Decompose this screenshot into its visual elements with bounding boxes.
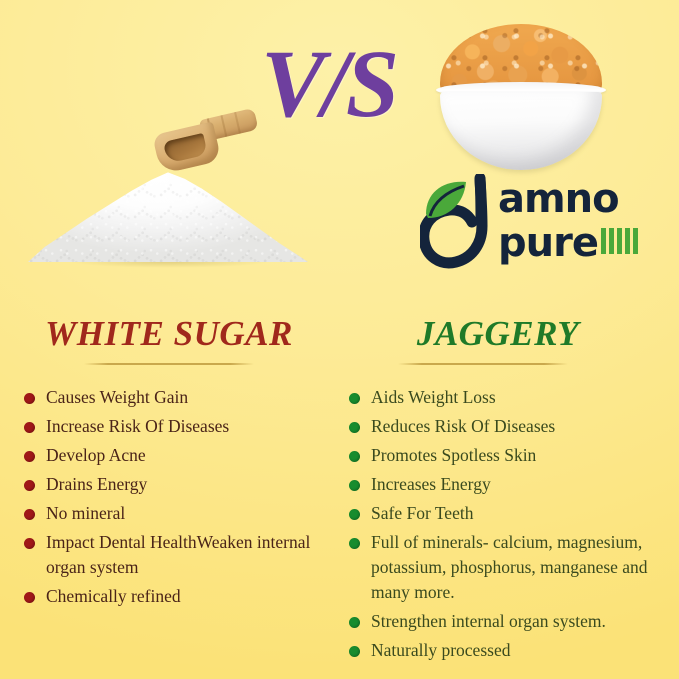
list-item-text: Safe For Teeth (371, 503, 473, 523)
list-item-text: Drains Energy (46, 474, 147, 494)
bullet-dot-icon (349, 538, 360, 549)
title-divider-left (84, 363, 254, 365)
list-item: Drains Energy (18, 472, 338, 497)
bullet-dot-icon (349, 393, 360, 404)
list-item-text: Full of minerals- calcium, magnesium, po… (371, 532, 648, 602)
bowl-body (440, 92, 602, 170)
bullet-list-jaggery: Aids Weight Loss Reduces Risk Of Disease… (343, 385, 663, 663)
bullet-dot-icon (349, 480, 360, 491)
brand-name-line-2-text: pure (498, 220, 598, 266)
brand-wordmark: amno pure (498, 178, 648, 264)
title-divider-right (398, 363, 568, 365)
bullet-dot-icon (24, 422, 35, 433)
bullet-dot-icon (24, 538, 35, 549)
column-jaggery: JAGGERY Aids Weight Loss Reduces Risk Of… (343, 300, 663, 667)
list-item: Reduces Risk Of Diseases (343, 414, 663, 439)
list-item-text: Promotes Spotless Skin (371, 445, 536, 465)
list-item-text: Develop Acne (46, 445, 146, 465)
hero-section: V/S amno pure (0, 0, 679, 300)
bullet-dot-icon (349, 451, 360, 462)
list-item: Develop Acne (18, 443, 338, 468)
bullet-dot-icon (349, 422, 360, 433)
column-title-white-sugar: WHITE SUGAR (18, 314, 338, 354)
list-item-text: Chemically refined (46, 586, 181, 606)
list-item: Increases Energy (343, 472, 663, 497)
list-item-text: Increases Energy (371, 474, 491, 494)
list-item-text: Increase Risk Of Diseases (46, 416, 229, 436)
bullet-list-white-sugar: Causes Weight Gain Increase Risk Of Dise… (18, 385, 338, 609)
list-item-text: Aids Weight Loss (371, 387, 496, 407)
column-white-sugar: WHITE SUGAR Causes Weight Gain Increase … (18, 300, 338, 613)
bullet-dot-icon (24, 393, 35, 404)
list-item-text: No mineral (46, 503, 125, 523)
bullet-dot-icon (349, 617, 360, 628)
bullet-dot-icon (24, 451, 35, 462)
list-item: Chemically refined (18, 584, 338, 609)
bullet-dot-icon (24, 592, 35, 603)
jaggery-bowl-illustration (418, 18, 623, 170)
list-item: Impact Dental HealthWeaken internal orga… (18, 530, 338, 580)
scoop-cup-inner (163, 133, 208, 164)
bullet-dot-icon (349, 646, 360, 657)
list-item-text: Reduces Risk Of Diseases (371, 416, 555, 436)
list-item-text: Causes Weight Gain (46, 387, 188, 407)
list-item: Promotes Spotless Skin (343, 443, 663, 468)
brand-logo: amno pure (420, 172, 642, 272)
bullet-dot-icon (349, 509, 360, 520)
list-item: Strengthen internal organ system. (343, 609, 663, 634)
column-title-jaggery: JAGGERY (343, 314, 663, 354)
comparison-columns: WHITE SUGAR Causes Weight Gain Increase … (0, 300, 679, 679)
list-item: Full of minerals- calcium, magnesium, po… (343, 530, 663, 605)
brand-name-line-1: amno (498, 178, 648, 220)
list-item-text: Impact Dental HealthWeaken internal orga… (46, 532, 310, 577)
list-item-text: Naturally processed (371, 640, 510, 660)
list-item-text: Strengthen internal organ system. (371, 611, 606, 631)
list-item: Naturally processed (343, 638, 663, 663)
brand-name-line-2: pure (498, 220, 648, 264)
versus-label: V/S (261, 36, 421, 132)
list-item: Causes Weight Gain (18, 385, 338, 410)
white-sugar-illustration (28, 115, 318, 270)
amno-pure-leaf-a-icon (420, 174, 498, 269)
infographic-canvas: V/S amno pure (0, 0, 679, 679)
list-item: Aids Weight Loss (343, 385, 663, 410)
list-item: Safe For Teeth (343, 501, 663, 526)
brand-bars-icon (601, 220, 641, 262)
scoop-cup (152, 121, 221, 174)
list-item: No mineral (18, 501, 338, 526)
list-item: Increase Risk Of Diseases (18, 414, 338, 439)
bullet-dot-icon (24, 509, 35, 520)
bullet-dot-icon (24, 480, 35, 491)
